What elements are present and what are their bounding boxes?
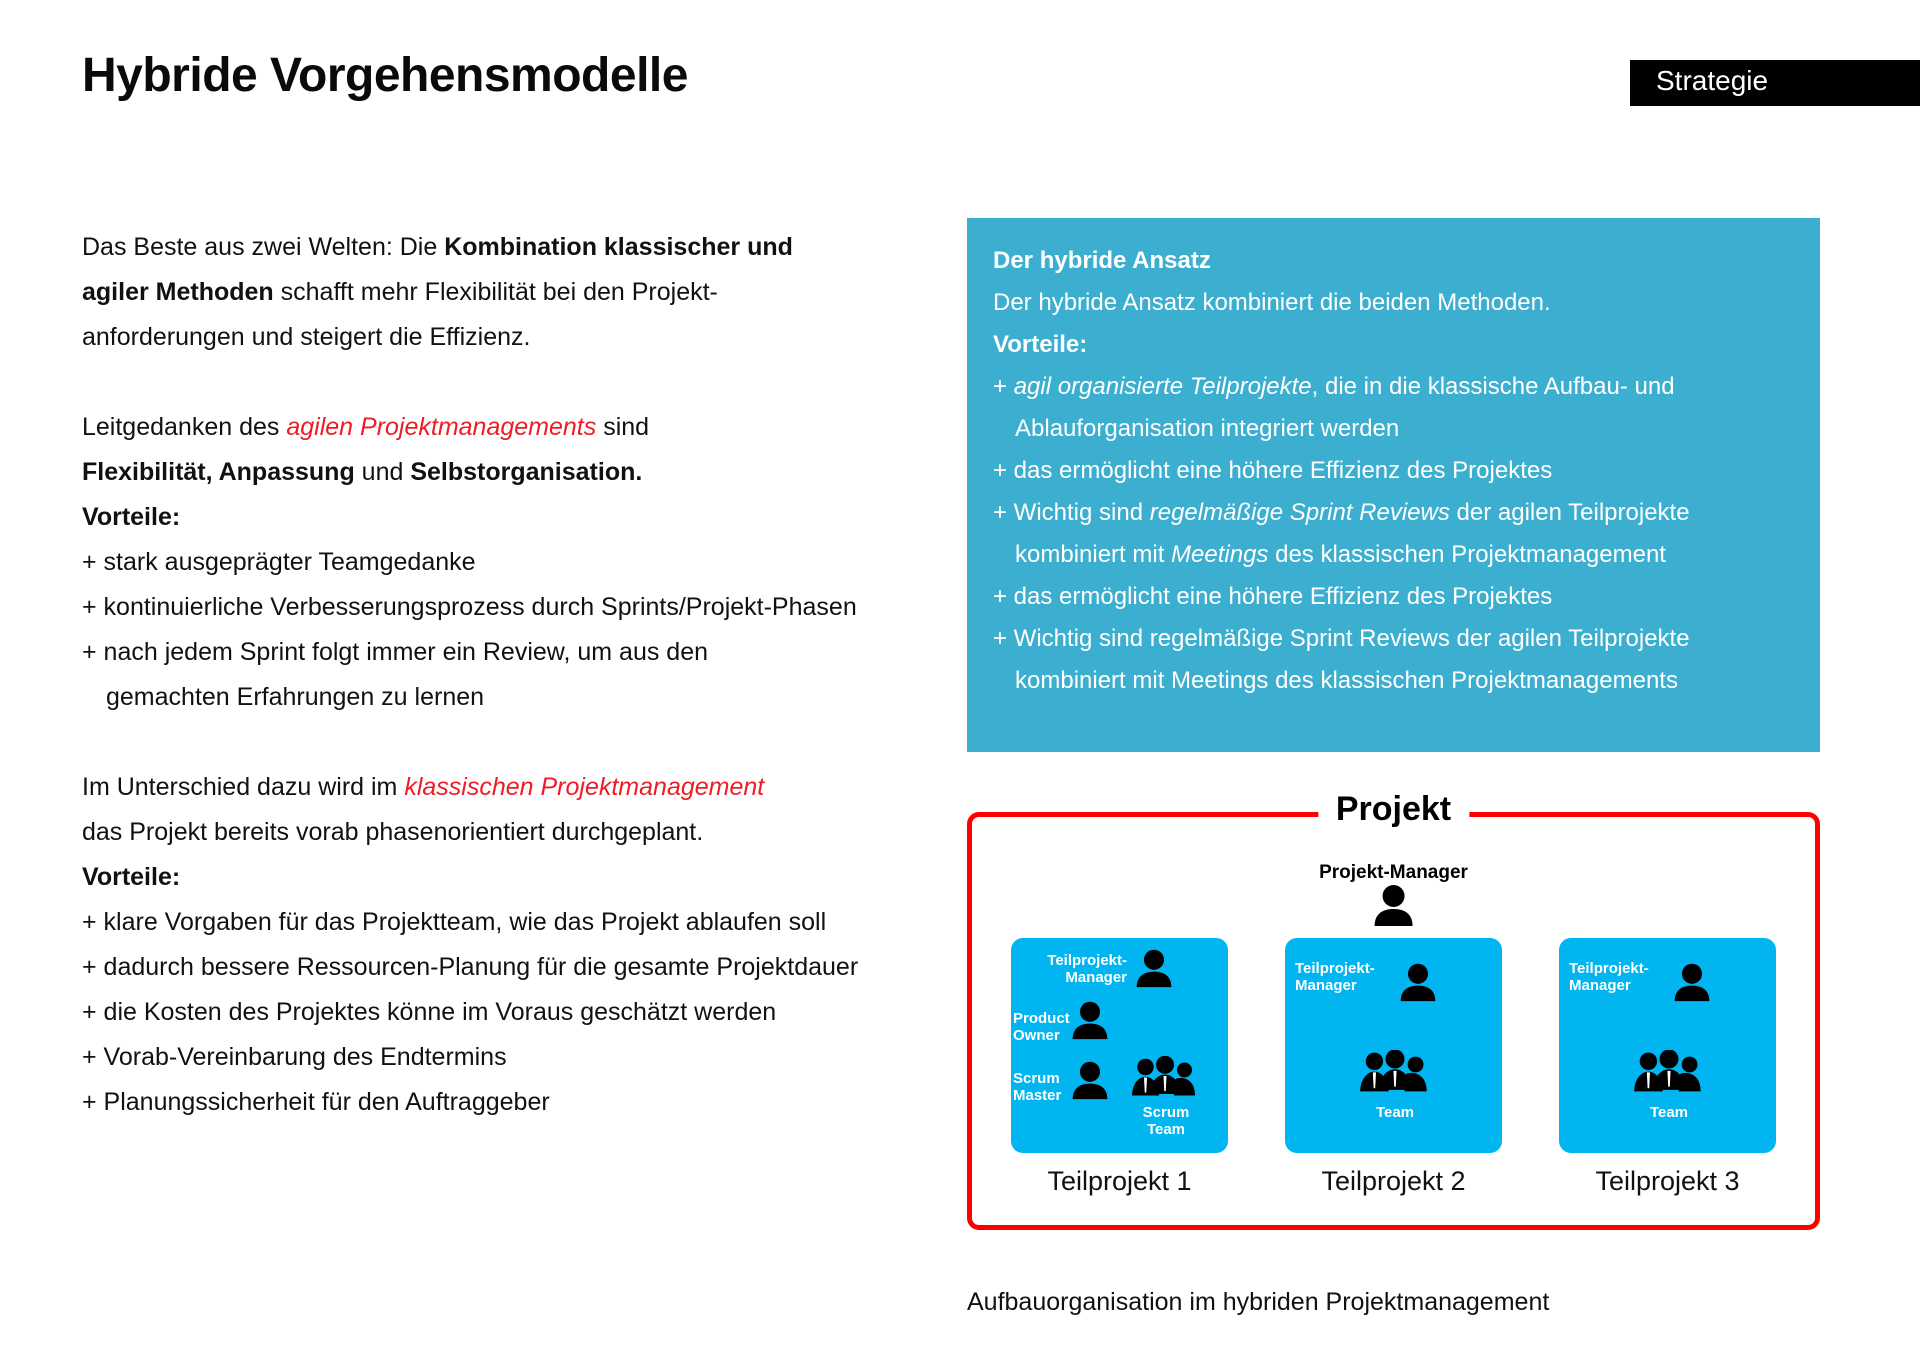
agile-vorteile-label: Vorteile: [82,503,180,531]
left-text-column: Das Beste aus zwei Welten: Die Kombinati… [82,225,962,1125]
intro-text-1: Das Beste aus zwei Welten: Die [82,233,444,261]
agile-paragraph: Leitgedanken des agilen Projektmanagemen… [82,405,962,720]
panel-heading: Der hybride Ansatz [993,240,1794,282]
panel-bullet-3-cont-post: des klassischen Projektmanagement [1268,541,1666,568]
card1-po-line1: Product [1013,1010,1070,1027]
person-icon [1133,948,1175,988]
panel-bullet-3-cont: kombiniert mit Meetings des klassischen … [993,534,1794,576]
person-icon [1397,962,1439,1002]
classic-bullet-1: + klare Vorgaben für das Projektteam, wi… [82,908,826,936]
agile-lead-pre: Leitgedanken des [82,413,286,441]
agile-bold-1: Flexibilität, Anpassung [82,458,355,486]
card1-sm-line2: Master [1013,1087,1061,1104]
panel-bullet-3-cont-emphasis: Meetings [1171,541,1268,568]
slide-root: Hybride Vorgehensmodelle Strategie Das B… [0,0,1920,1358]
card1-tpm-line2: Manager [1065,969,1127,986]
subproject-3-name: Teilprojekt 3 [1559,1166,1776,1197]
person-icon [1371,884,1417,926]
panel-bullet-4: + das ermöglicht eine höhere Effizienz d… [993,576,1794,618]
subproject-2-name: Teilprojekt 2 [1285,1166,1502,1197]
panel-bullet-3-cont-pre: kombiniert mit [1015,541,1171,568]
page-title: Hybride Vorgehensmodelle [82,48,688,103]
card3-tpm-line1: Teilprojekt- [1569,960,1649,977]
card3-team-label: Team [1627,1104,1711,1121]
card1-sm-line1: Scrum [1013,1070,1060,1087]
hybrid-approach-panel: Der hybride Ansatz Der hybride Ansatz ko… [967,218,1820,752]
classic-paragraph: Im Unterschied dazu wird im klassischen … [82,765,962,1125]
intro-text-3: anforderungen und steigert die Effizienz… [82,323,530,351]
subproject-1-name: Teilprojekt 1 [1011,1166,1228,1197]
classic-bullet-4: + Vorab-Vereinbarung des Endtermins [82,1043,507,1071]
panel-bullet-3-emphasis: regelmäßige Sprint Reviews [1150,499,1450,526]
person-icon [1069,1060,1111,1100]
card1-st-line2: Team [1147,1121,1185,1138]
classic-line2: das Projekt bereits vorab phasenorientie… [82,818,703,846]
panel-bullet-3-post: der agilen Teilprojekte [1450,499,1690,526]
intro-bold-2: agiler Methoden [82,278,274,306]
team-group-icon [1357,1050,1433,1098]
card1-po-line2: Owner [1013,1027,1060,1044]
agile-bullet-2: + kontinuierliche Verbesserungsprozess d… [82,593,857,621]
classic-vorteile-label: Vorteile: [82,863,180,891]
team-group-icon [1631,1050,1707,1098]
card2-tpm-line1: Teilprojekt- [1295,960,1375,977]
spacer-1 [82,360,962,405]
status-badge: Strategie [1630,60,1920,106]
panel-bullet-1-cont: Ablauforganisation integriert werden [993,408,1794,450]
intro-text-2: schafft mehr Flexibilität bei den Projek… [274,278,718,306]
card1-tpm-label: Teilprojekt- Manager [1023,952,1127,986]
classic-bullet-2: + dadurch bessere Ressourcen-Planung für… [82,953,858,981]
panel-bullet-5-cont: kombiniert mit Meetings des klassischen … [993,660,1794,702]
spacer-2 [82,720,962,765]
card1-st-line1: Scrum [1143,1104,1190,1121]
card2-tpm-label: Teilprojekt- Manager [1295,960,1395,994]
person-icon [1671,962,1713,1002]
classic-emphasis: klassischen Projektmanagement [404,773,764,801]
intro-bold-1: Kombination klassischer und [444,233,793,261]
panel-bullet-1: + agil organisierte Teilprojekte, die in… [993,366,1794,408]
panel-bullet-5: + Wichtig sind regelmäßige Sprint Review… [993,618,1794,660]
org-diagram: Projekt Projekt-Manager Teilprojekt- Man… [967,790,1820,1270]
panel-bullet-1-rest: , die in die klassische Aufbau- und [1312,373,1675,400]
classic-lead-pre: Im Unterschied dazu wird im [82,773,404,801]
card3-tpm-line2: Manager [1569,977,1631,994]
intro-paragraph: Das Beste aus zwei Welten: Die Kombinati… [82,225,962,360]
project-manager-label: Projekt-Manager [1319,862,1468,884]
card2-team-label: Team [1353,1104,1437,1121]
panel-subline: Der hybride Ansatz kombiniert die beiden… [993,282,1794,324]
card1-tpm-line1: Teilprojekt- [1047,952,1127,969]
agile-emphasis: agilen Projektmanagements [286,413,596,441]
classic-bullet-5: + Planungssicherheit für den Auftraggebe… [82,1088,550,1116]
subproject-card-2[interactable]: Teilprojekt- Manager Team [1285,938,1502,1153]
diagram-caption: Aufbauorganisation im hybriden Projektma… [967,1288,1549,1317]
team-group-icon [1129,1056,1201,1102]
subproject-card-1[interactable]: Teilprojekt- Manager Product Owner Scrum [1011,938,1228,1153]
agile-bullet-3: + nach jedem Sprint folgt immer ein Revi… [82,638,708,666]
project-manager-block: Projekt-Manager [1319,862,1468,931]
card2-tpm-line2: Manager [1295,977,1357,994]
panel-bullet-3: + Wichtig sind regelmäßige Sprint Review… [993,492,1794,534]
agile-lead-post: sind [596,413,649,441]
panel-vorteile-label: Vorteile: [993,324,1794,366]
agile-mid: und [355,458,411,486]
card1-scrumteam-label: Scrum Team [1123,1104,1209,1138]
panel-bullet-1-plus: + [993,373,1014,400]
subproject-row: Teilprojekt- Manager Product Owner Scrum [1011,938,1776,1153]
panel-bullet-1-emphasis: agil organisierte Teilprojekte [1014,373,1312,400]
panel-bullet-2: + das ermöglicht eine höhere Effizienz d… [993,450,1794,492]
person-icon [1069,1000,1111,1040]
card3-tpm-label: Teilprojekt- Manager [1569,960,1669,994]
subproject-card-3[interactable]: Teilprojekt- Manager Team [1559,938,1776,1153]
panel-bullet-3-pre: + Wichtig sind [993,499,1150,526]
project-frame-label: Projekt [1318,790,1469,829]
agile-bullet-1: + stark ausgeprägter Teamgedanke [82,548,476,576]
agile-bold-2: Selbstorganisation. [410,458,642,486]
agile-bullet-3-cont: gemachten Erfahrungen zu lernen [82,683,484,711]
classic-bullet-3: + die Kosten des Projektes könne im Vora… [82,998,776,1026]
